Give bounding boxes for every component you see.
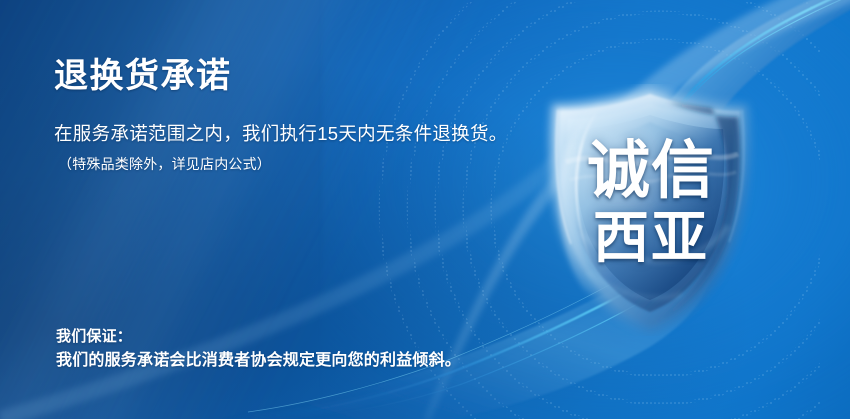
return-exchange-promise-banner: 诚信 西亚 退换货承诺 在服务承诺范围之内，我们执行15天内无条件退换货。 （特…: [0, 0, 850, 419]
shield-icon: [536, 84, 766, 336]
promise-exclusion-note: （特殊品类除外，详见店内公式）: [58, 154, 524, 174]
promise-copy-top: 退换货承诺 在服务承诺范围之内，我们执行15天内无条件退换货。 （特殊品类除外，…: [54, 56, 524, 174]
shield-badge: 诚信 西亚: [536, 84, 766, 336]
guarantee-body: 我们的服务承诺会比消费者协会规定更向您的利益倾斜。: [56, 350, 526, 372]
promise-subtitle: 在服务承诺范围之内，我们执行15天内无条件退换货。: [54, 122, 524, 146]
promise-copy-bottom: 我们保证： 我们的服务承诺会比消费者协会规定更向您的利益倾斜。: [56, 326, 526, 372]
page-title: 退换货承诺: [54, 56, 524, 96]
guarantee-label: 我们保证：: [56, 326, 526, 347]
